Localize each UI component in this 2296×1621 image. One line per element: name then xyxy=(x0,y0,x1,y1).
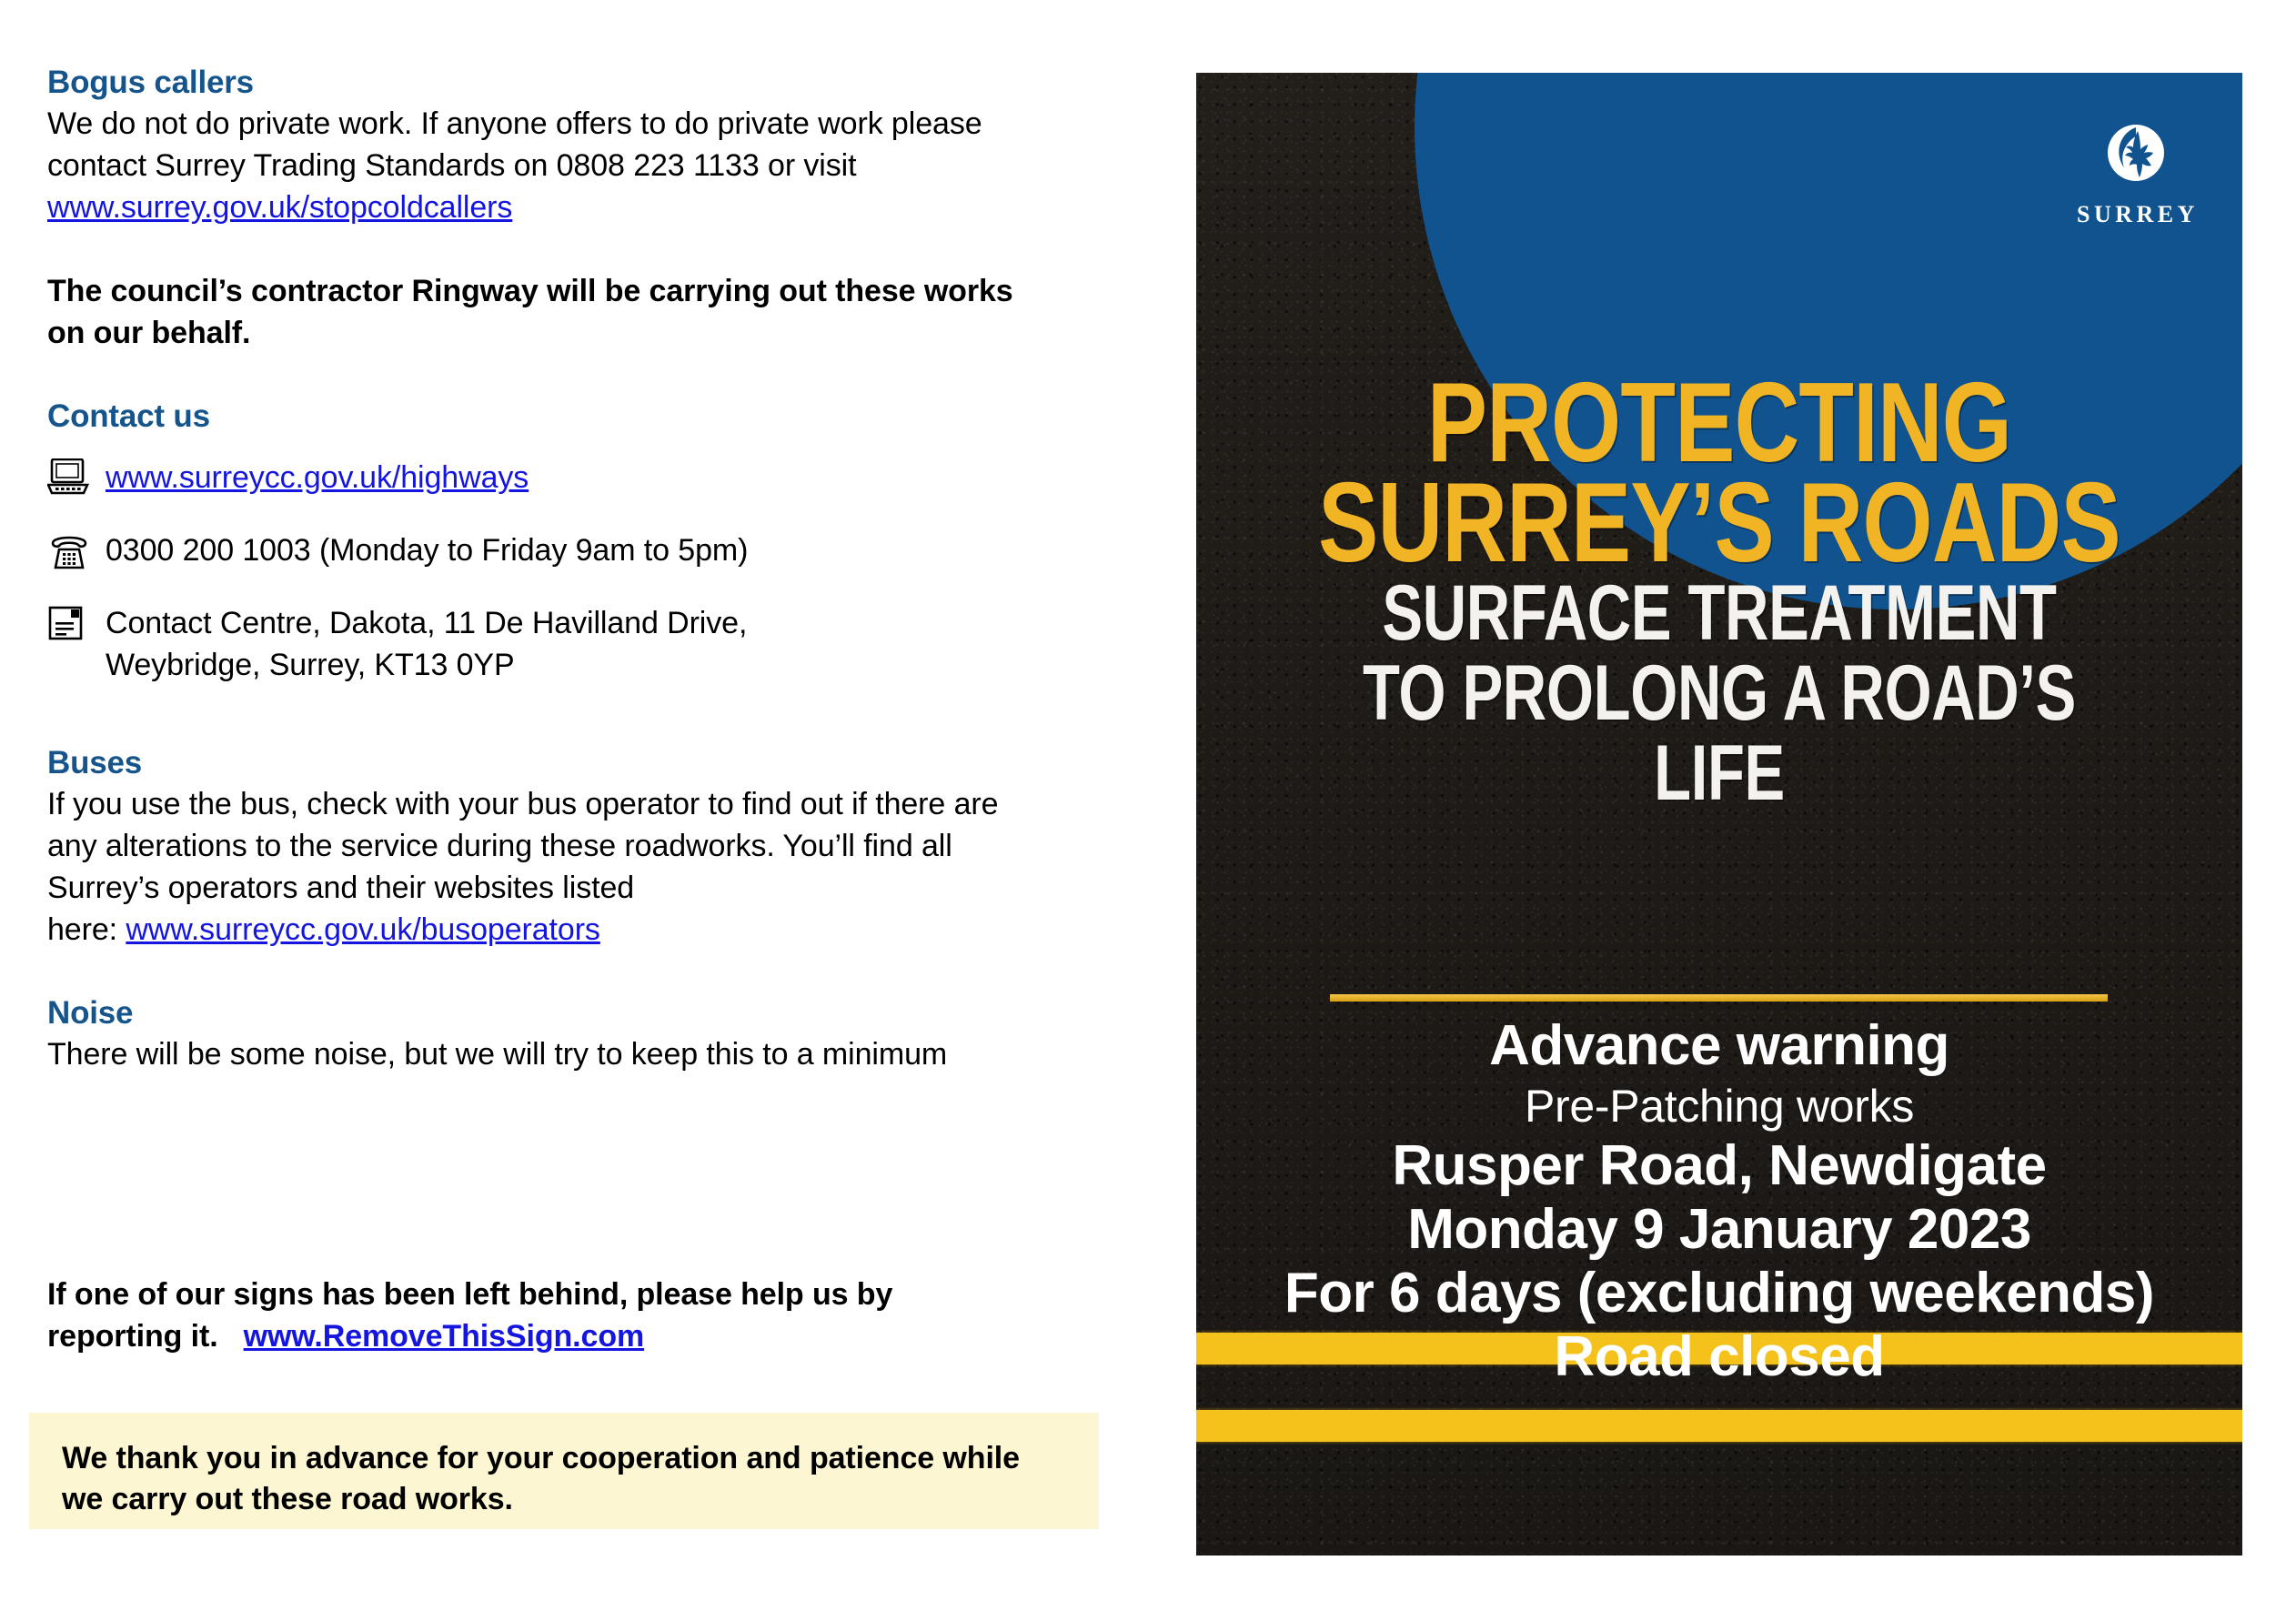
buses-section: Buses If you use the bus, check with you… xyxy=(47,742,1121,951)
noise-heading: Noise xyxy=(47,992,1121,1033)
works-location: Rusper Road, Newdigate xyxy=(1196,1134,2242,1198)
buses-line-3: Surrey’s operators and their websites li… xyxy=(47,867,1121,909)
oak-leaf-circle-icon xyxy=(2100,120,2171,191)
letter-icon xyxy=(47,602,106,642)
buses-here-prefix: here: xyxy=(47,912,126,947)
headline-line-2: SURREY’S ROADS xyxy=(1301,473,2138,573)
surrey-council-logo: SURREY xyxy=(2077,120,2195,228)
spacer xyxy=(47,228,1121,270)
notice-text-column: Bogus callers We do not do private work.… xyxy=(47,62,1121,1075)
contact-website-value: www.surreycc.gov.uk/highways xyxy=(106,457,529,498)
subhead-line-2: TO PROLONG A ROAD’S LIFE xyxy=(1312,653,2128,813)
contractor-line-1: The council’s contractor Ringway will be… xyxy=(47,270,1121,312)
contact-address-line-2: Weybridge, Surrey, KT13 0YP xyxy=(106,644,747,686)
thanks-line-2: we carry out these road works. xyxy=(62,1479,1066,1520)
works-type: Pre-Patching works xyxy=(1196,1078,2242,1134)
spacer xyxy=(47,354,1121,396)
spacer xyxy=(47,717,1121,742)
works-restriction: Road closed xyxy=(1196,1325,2242,1389)
telephone-icon xyxy=(47,529,106,569)
bogus-callers-heading: Bogus callers xyxy=(47,62,1121,103)
sign-removal-line-1: If one of our signs has been left behind… xyxy=(47,1274,1103,1315)
subhead-line-1: SURFACE TREATMENT xyxy=(1312,573,2128,653)
sign-removal-prefix: reporting it. xyxy=(47,1319,244,1354)
highways-link[interactable]: www.surreycc.gov.uk/highways xyxy=(106,460,529,495)
contact-address-line-1: Contact Centre, Dakota, 11 De Havilland … xyxy=(106,602,747,644)
contact-phone-value: 0300 200 1003 (Monday to Friday 9am to 5… xyxy=(106,529,748,571)
advance-warning-title: Advance warning xyxy=(1196,1014,2242,1078)
advance-warning-poster: SURREY PROTECTING SURREY’S ROADS SURFACE… xyxy=(1196,73,2242,1556)
removethissign-link[interactable]: www.RemoveThisSign.com xyxy=(244,1319,645,1354)
contact-row-address: Contact Centre, Dakota, 11 De Havilland … xyxy=(47,602,1121,686)
headline-line-1: PROTECTING xyxy=(1301,373,2138,473)
sign-removal-line-2: reporting it. www.RemoveThisSign.com xyxy=(47,1315,1103,1357)
bogus-callers-section: Bogus callers We do not do private work.… xyxy=(47,62,1121,228)
contact-row-phone: 0300 200 1003 (Monday to Friday 9am to 5… xyxy=(47,529,1121,571)
buses-line-2: any alterations to the service during th… xyxy=(47,825,1121,867)
buses-line-1: If you use the bus, check with your bus … xyxy=(47,783,1121,825)
thanks-note-box: We thank you in advance for your coopera… xyxy=(29,1413,1099,1529)
buses-heading: Buses xyxy=(47,742,1121,783)
road-stripe-lower xyxy=(1196,1410,2242,1442)
bogus-callers-line-1: We do not do private work. If anyone off… xyxy=(47,103,1121,145)
works-duration: For 6 days (excluding weekends) xyxy=(1196,1262,2242,1325)
poster-divider-rule xyxy=(1330,994,2108,1002)
spacer xyxy=(47,951,1121,992)
contact-us-section: Contact us www.surreycc.gov. xyxy=(47,396,1121,686)
poster-details-block: Advance warning Pre-Patching works Ruspe… xyxy=(1196,1014,2242,1389)
busoperators-link[interactable]: www.surreycc.gov.uk/busoperators xyxy=(126,912,600,947)
surrey-logo-wordmark: SURREY xyxy=(2077,201,2195,228)
stopcoldcallers-link[interactable]: www.surrey.gov.uk/stopcoldcallers xyxy=(47,190,512,225)
computer-icon xyxy=(47,457,106,495)
contractor-section: The council’s contractor Ringway will be… xyxy=(47,270,1121,354)
bogus-callers-line-2: contact Surrey Trading Standards on 0808… xyxy=(47,145,1121,186)
contractor-line-2: on our behalf. xyxy=(47,312,1121,354)
buses-line-4: here: www.surreycc.gov.uk/busoperators xyxy=(47,909,1121,951)
contact-address-value: Contact Centre, Dakota, 11 De Havilland … xyxy=(106,602,747,686)
contact-us-heading: Contact us xyxy=(47,396,1121,437)
noise-body: There will be some noise, but we will tr… xyxy=(47,1033,1121,1075)
noise-section: Noise There will be some noise, but we w… xyxy=(47,992,1121,1075)
poster-headline-block: PROTECTING SURREY’S ROADS SURFACE TREATM… xyxy=(1196,373,2242,813)
bogus-callers-link-wrapper: www.surrey.gov.uk/stopcoldcallers xyxy=(47,186,1121,228)
sign-removal-section: If one of our signs has been left behind… xyxy=(47,1274,1103,1357)
thanks-line-1: We thank you in advance for your coopera… xyxy=(62,1438,1066,1479)
works-start-date: Monday 9 January 2023 xyxy=(1196,1198,2242,1262)
contact-list: www.surreycc.gov.uk/highways 0300 200 10 xyxy=(47,457,1121,686)
contact-row-website: www.surreycc.gov.uk/highways xyxy=(47,457,1121,498)
